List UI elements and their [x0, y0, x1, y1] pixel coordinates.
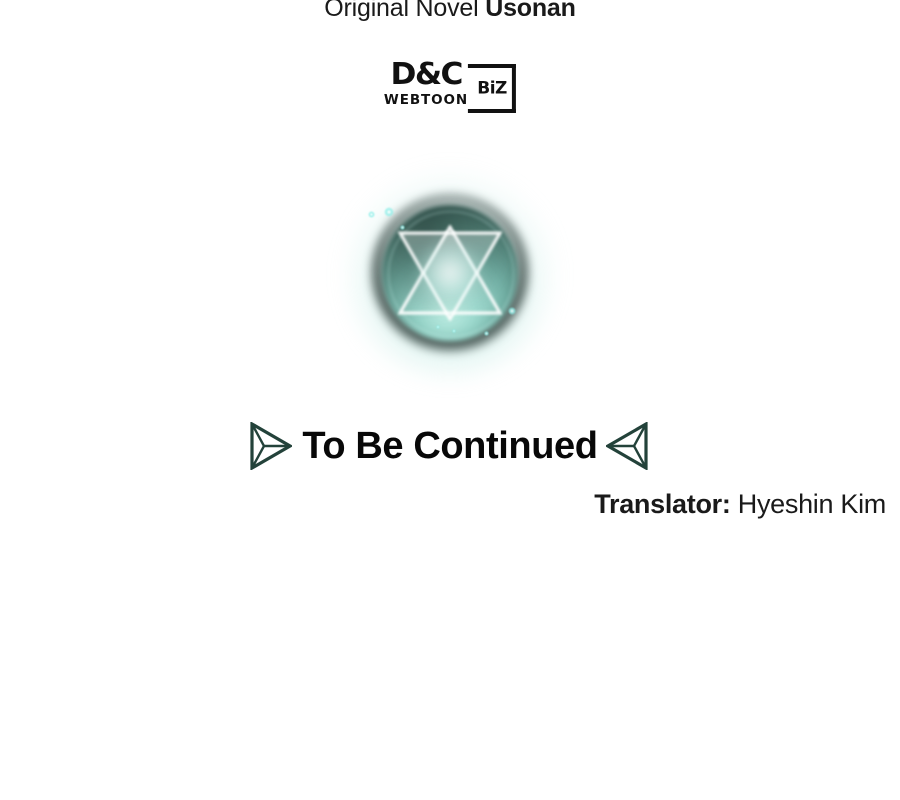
original-novel-label: Original Novel: [324, 0, 478, 22]
original-novel-credit: Original Novel Usonan: [0, 0, 900, 23]
sparkle-particle: [452, 329, 456, 333]
orb-core-glow: [416, 239, 484, 307]
to-be-continued-block: To Be Continued: [0, 178, 900, 368]
sparkle-particle: [368, 211, 375, 218]
logo-biz-bracket-icon: BiZ: [472, 64, 516, 113]
original-novel-value: Usonan: [485, 0, 575, 22]
translator-value: Hyeshin Kim: [738, 489, 886, 519]
chapter-end-page: Original Novel Usonan D&C WEBTOON BiZ: [0, 0, 900, 800]
to-be-continued-text: To Be Continued: [0, 424, 900, 468]
logo-wordmark: D&C WEBTOON: [384, 60, 468, 108]
translator-credit: Translator: Hyeshin Kim: [594, 487, 886, 521]
logo-biz-text: BiZ: [472, 80, 512, 97]
logo-webtoon-text: WEBTOON: [384, 94, 468, 108]
sparkle-particle: [384, 207, 394, 217]
logo-dc-text: D&C: [390, 60, 461, 90]
sparkle-particle: [484, 331, 489, 336]
sparkle-particle: [400, 225, 405, 230]
translator-label: Translator:: [594, 489, 730, 519]
sparkle-particle: [508, 307, 516, 315]
sparkle-particle: [436, 325, 440, 329]
publisher-logo: D&C WEBTOON BiZ: [0, 60, 900, 128]
